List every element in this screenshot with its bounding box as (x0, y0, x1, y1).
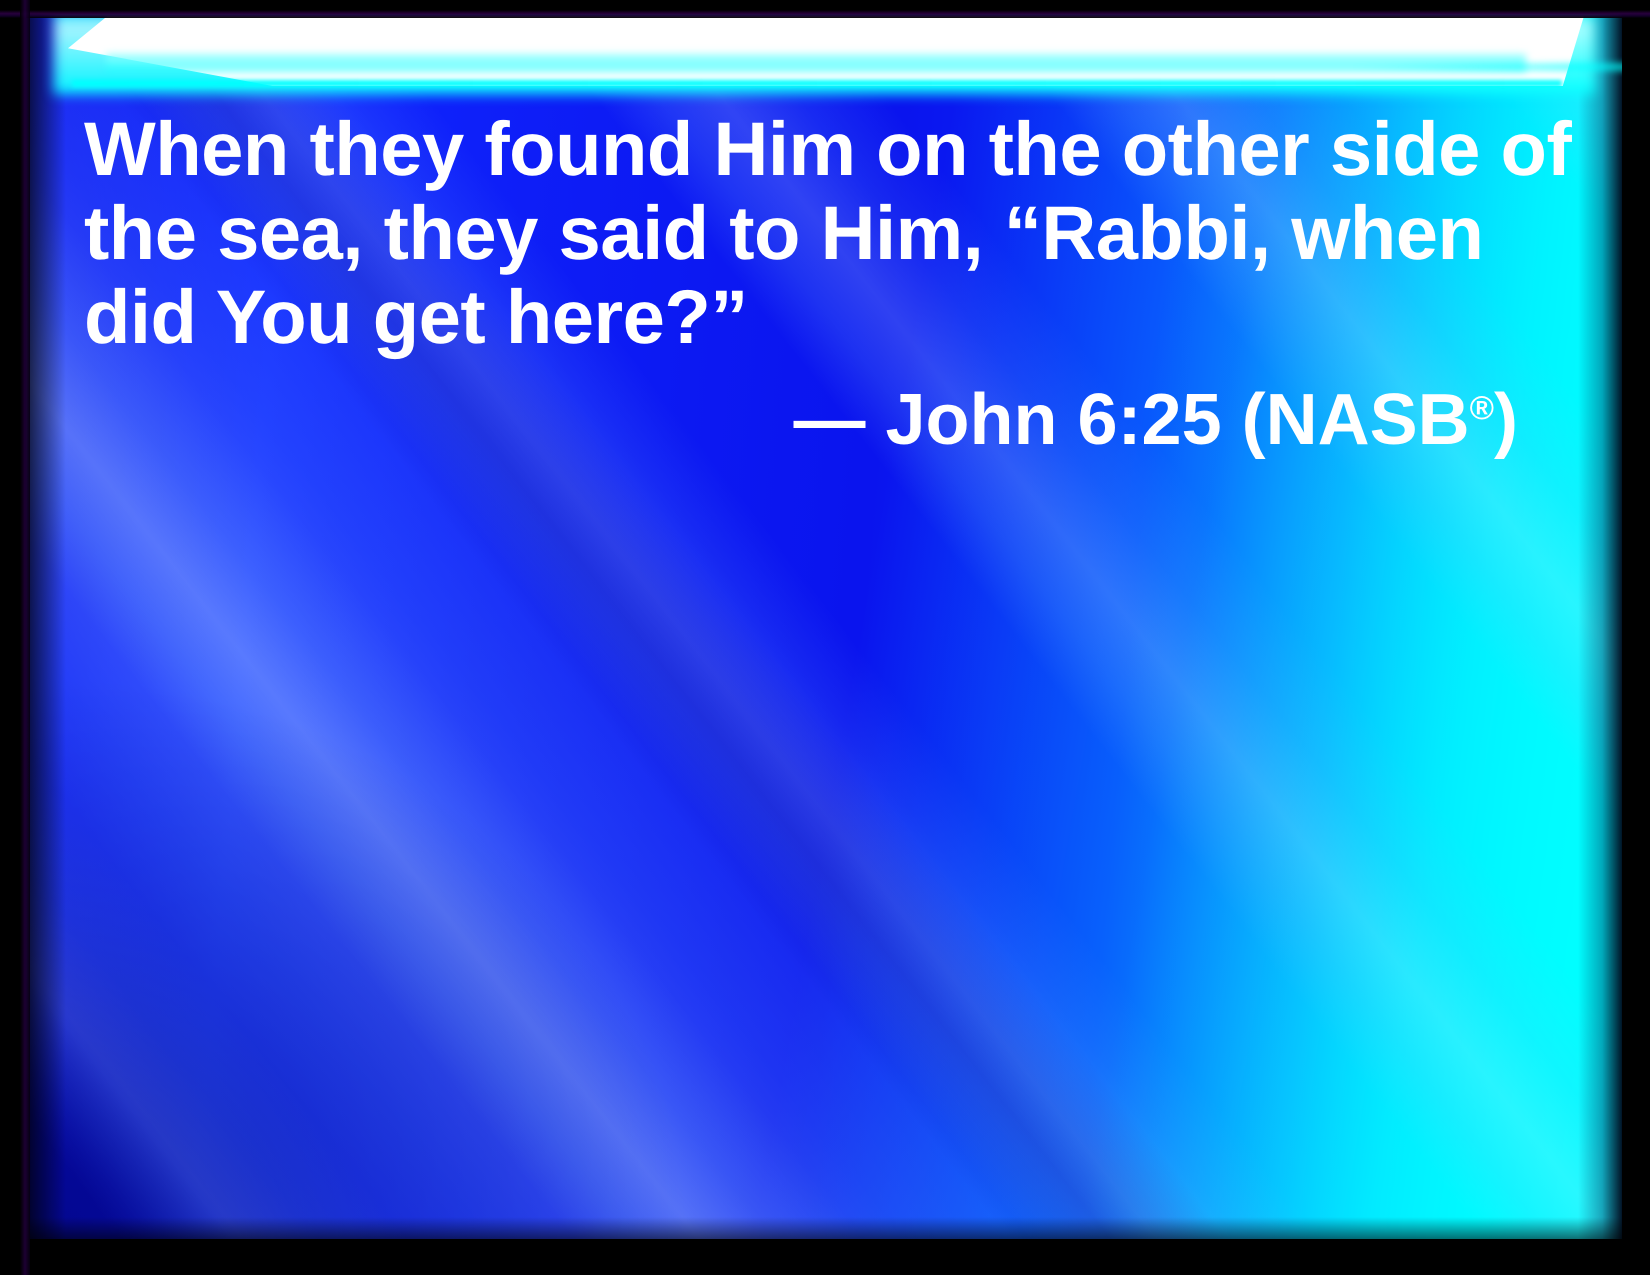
attribution-dash: — (794, 380, 886, 460)
attribution-reference: John 6:25 (NASB (886, 380, 1470, 460)
background-left-vignette (26, 14, 66, 1239)
frame-seam-top (0, 10, 1650, 18)
verse-line-2: the sea, they said to Him, “Rabbi, when (84, 192, 1514, 276)
verse-attribution: — John 6:25 (NASB®) (84, 378, 1518, 462)
verse-text: When they found Him on the other side of… (84, 108, 1514, 360)
attribution-closing-paren: ) (1494, 380, 1518, 460)
registered-trademark-icon: ® (1470, 390, 1494, 427)
background-bottom-vignette (26, 1217, 1622, 1239)
verse-line-1: When they found Him on the other side of (84, 108, 1514, 192)
frame-border-bottom (0, 1239, 1650, 1275)
frame-border-right (1622, 0, 1650, 1275)
scripture-slide: When they found Him on the other side of… (0, 0, 1650, 1275)
verse-line-3: did You get here?” (84, 276, 1514, 360)
frame-seam-left (20, 0, 30, 1275)
background-right-vignette (1578, 14, 1622, 1239)
